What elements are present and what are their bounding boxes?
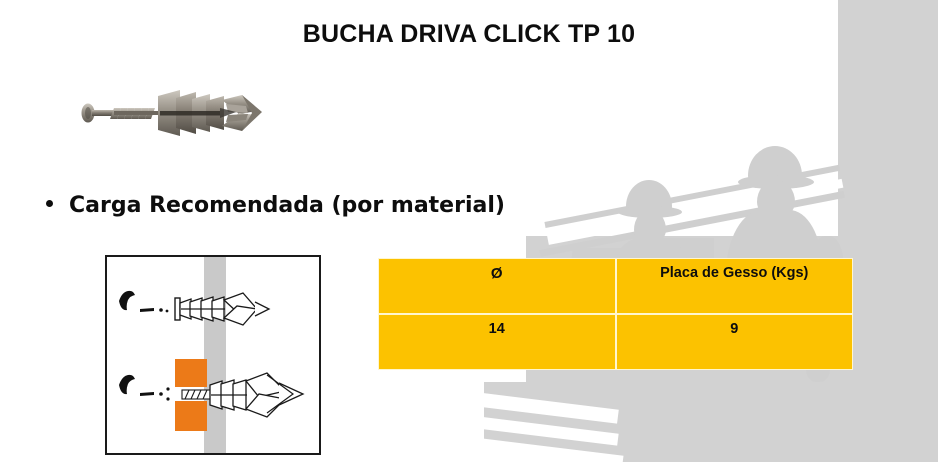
installation-diagram-box xyxy=(105,255,321,455)
page-title: BUCHA DRIVA CLICK TP 10 xyxy=(0,20,938,49)
installation-diagram-graphic xyxy=(107,257,319,453)
background-diagonal-strip-3 xyxy=(476,438,623,462)
background-diagonal-strip-2 xyxy=(473,416,618,446)
worker-left-hat-brim xyxy=(618,206,682,218)
worker-right-hard-hat xyxy=(748,146,802,184)
background-notch-lower-left xyxy=(466,382,484,462)
carga-recomendada-table: Ø Placa de Gesso (Kgs) 14 9 xyxy=(378,258,853,370)
anchor-with-screw-graphic xyxy=(76,86,262,142)
table-header-placa-gesso: Placa de Gesso (Kgs) xyxy=(616,258,854,314)
product-photo-anchor xyxy=(76,86,262,142)
table-cell-diameter-value: 14 xyxy=(378,314,616,370)
slide-canvas: BUCHA DRIVA CLICK TP 10 xyxy=(0,0,938,462)
bullet-text: Carga Recomendada (por material) xyxy=(69,193,505,218)
table-row: 14 9 xyxy=(378,314,853,370)
background-diagonal-strip-1 xyxy=(473,392,619,424)
worker-right-hat-brim xyxy=(738,175,814,189)
diagram-bracket-upper xyxy=(175,359,207,387)
background-pole-upper xyxy=(544,165,840,228)
table-header-row: Ø Placa de Gesso (Kgs) xyxy=(378,258,853,314)
diagram-bracket-lower xyxy=(175,401,207,431)
diagram-wall xyxy=(204,257,226,453)
background-pole-gap xyxy=(547,179,843,245)
background-right-band xyxy=(838,0,938,462)
bullet-dot-icon xyxy=(46,200,53,207)
table-header-diameter: Ø xyxy=(378,258,616,314)
table-cell-placa-gesso-value: 9 xyxy=(616,314,854,370)
worker-left-head xyxy=(634,210,666,244)
bullet-row: Carga Recomendada (por material) xyxy=(46,193,505,218)
worker-left-hard-hat xyxy=(626,180,672,214)
background-pole-lower xyxy=(539,191,845,257)
worker-right-head xyxy=(757,180,795,218)
